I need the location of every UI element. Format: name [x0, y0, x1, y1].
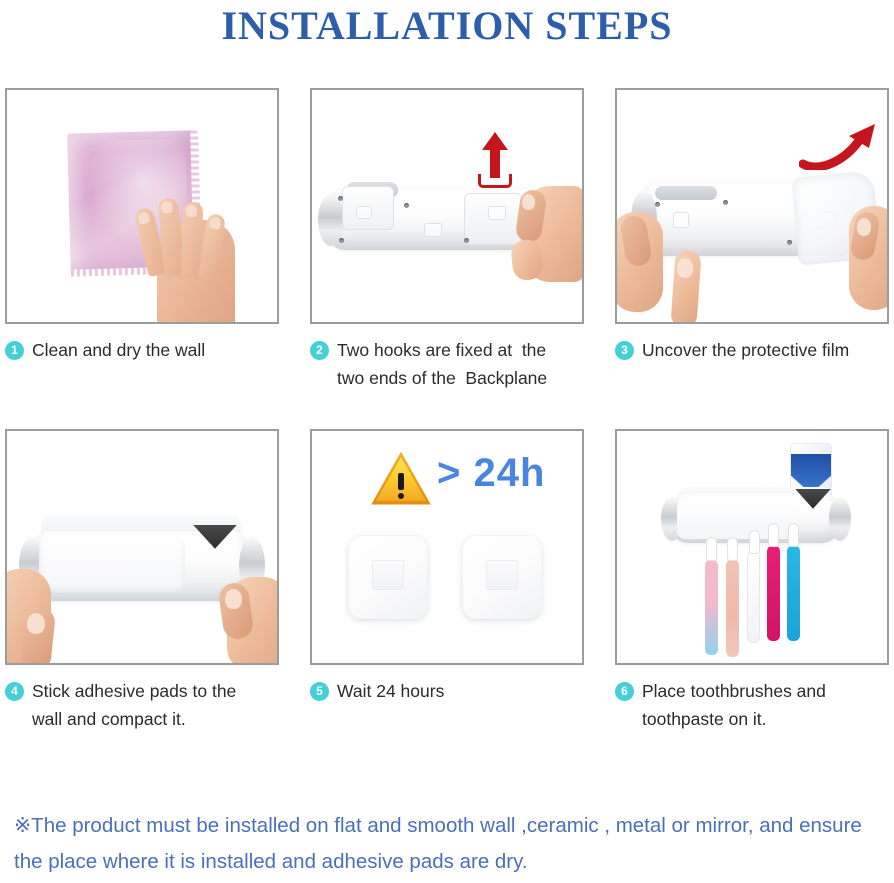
- fingernail: [225, 589, 242, 609]
- screw-dot: [404, 203, 409, 208]
- brush-head: [727, 537, 738, 561]
- step-badge-3: 3: [615, 341, 634, 360]
- step-caption-2: 2 Two hooks are fixed at the two ends of…: [310, 336, 584, 393]
- step-image-5: > 24h: [310, 429, 584, 665]
- brush-head: [768, 523, 779, 547]
- finger: [510, 239, 544, 282]
- backplane-mount-right: [488, 206, 506, 220]
- toothbrush: [787, 545, 800, 641]
- adhesive-pad: [462, 535, 542, 619]
- arrow-base-bracket: [478, 174, 512, 188]
- steps-row-2: 4 Stick adhesive pads to the wall and co…: [5, 429, 889, 734]
- fingernail: [857, 218, 871, 236]
- screw-dot: [787, 240, 792, 245]
- step-caption-1: 1 Clean and dry the wall: [5, 336, 279, 364]
- device-mount-left: [673, 212, 689, 228]
- step-image-1: [5, 88, 279, 324]
- step-image-4: [5, 429, 279, 665]
- step-caption-text-6: Place toothbrushes and toothpaste on it.: [642, 677, 889, 734]
- step-badge-5: 5: [310, 682, 329, 701]
- step-card-2: 2 Two hooks are fixed at the two ends of…: [310, 88, 584, 393]
- step-caption-6: 6 Place toothbrushes and toothpaste on i…: [615, 677, 889, 734]
- fingernail: [522, 194, 535, 210]
- toothbrush: [747, 551, 760, 643]
- step-image-3: [615, 88, 889, 324]
- installation-steps-infographic: INSTALLATION STEPS 1: [0, 0, 894, 883]
- step-badge-4: 4: [5, 682, 24, 701]
- installation-note: ※The product must be installed on flat a…: [14, 808, 884, 881]
- step-caption-5: 5 Wait 24 hours: [310, 677, 584, 705]
- step-badge-1: 1: [5, 341, 24, 360]
- step-card-1: 1 Clean and dry the wall: [5, 88, 279, 393]
- steps-grid: 1 Clean and dry the wall: [5, 88, 889, 733]
- fingernail: [677, 258, 693, 278]
- step-badge-6: 6: [615, 682, 634, 701]
- toothbrush: [726, 559, 739, 657]
- screw-dot: [655, 202, 660, 207]
- step-card-4: 4 Stick adhesive pads to the wall and co…: [5, 429, 279, 734]
- step-caption-text-4: Stick adhesive pads to the wall and comp…: [32, 677, 279, 734]
- step-caption-text-2: Two hooks are fixed at the two ends of t…: [337, 336, 584, 393]
- fingernail: [27, 613, 45, 634]
- holder-right-cap: [829, 497, 851, 541]
- curved-arrow-icon: [799, 120, 885, 170]
- device-top-slot: [655, 186, 717, 200]
- step-image-6: [615, 429, 889, 665]
- hand-wiping: [119, 178, 237, 324]
- page-title: INSTALLATION STEPS: [0, 2, 894, 49]
- step-caption-text-1: Clean and dry the wall: [32, 336, 279, 364]
- device-front-cover: [39, 537, 185, 593]
- screw-dot: [338, 196, 343, 201]
- screw-dot: [339, 238, 344, 243]
- toothbrush: [767, 545, 780, 641]
- step-caption-4: 4 Stick adhesive pads to the wall and co…: [5, 677, 279, 734]
- step-card-6: 6 Place toothbrushes and toothpaste on i…: [615, 429, 889, 734]
- step-card-5: > 24h 5 Wait 24 hours: [310, 429, 584, 734]
- brush-head: [788, 523, 799, 547]
- screw-dot: [723, 200, 728, 205]
- step-caption-3: 3 Uncover the protective film: [615, 336, 889, 364]
- duration-label: > 24h: [437, 451, 545, 496]
- adhesive-pad: [348, 535, 428, 619]
- toothbrush: [705, 559, 718, 655]
- backplane-mount-center: [424, 223, 442, 237]
- step-image-2: [310, 88, 584, 324]
- brush-head: [706, 537, 717, 561]
- warning-triangle-icon: [370, 451, 432, 507]
- backplane-mount-left: [356, 206, 372, 219]
- screw-dot: [464, 238, 469, 243]
- step-badge-2: 2: [310, 341, 329, 360]
- step-caption-text-3: Uncover the protective film: [642, 336, 889, 364]
- steps-row-1: 1 Clean and dry the wall: [5, 88, 889, 393]
- step-card-3: 3 Uncover the protective film: [615, 88, 889, 393]
- brush-head: [749, 530, 760, 554]
- step-caption-text-5: Wait 24 hours: [337, 677, 584, 705]
